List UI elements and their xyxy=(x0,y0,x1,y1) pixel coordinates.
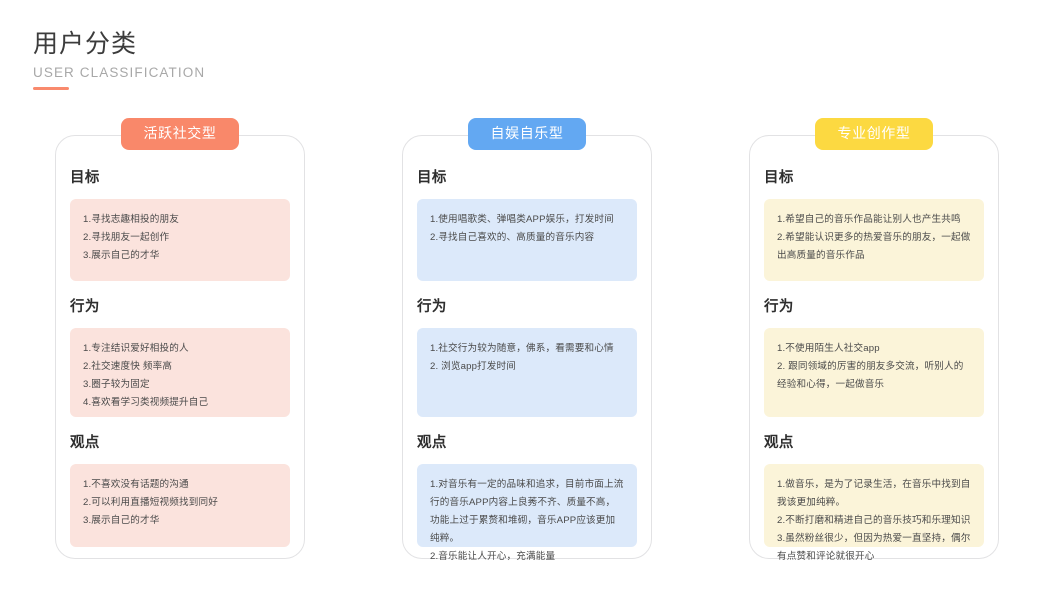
persona-card-body: 目标1.寻找志趣相投的朋友2.寻找朋友一起创作3.展示自己的才华行为1.专注结识… xyxy=(55,135,305,559)
section-panel-viewpoint: 1.做音乐，是为了记录生活，在音乐中找到自我该更加纯粹。2.不断打磨和精进自己的… xyxy=(764,464,984,547)
page-subtitle: USER CLASSIFICATION xyxy=(33,64,205,81)
panel-line: 3.虽然粉丝很少，但因为热爱一直坚持，偶尔有点赞和评论就很开心 xyxy=(777,530,972,566)
panel-line: 2.希望能认识更多的热爱音乐的朋友，一起做出高质量的音乐作品 xyxy=(777,229,972,265)
panel-line: 2.不断打磨和精进自己的音乐技巧和乐理知识 xyxy=(777,512,972,530)
panel-line: 2.可以利用直播短视频找到同好 xyxy=(83,494,278,512)
section-panel-viewpoint: 1.对音乐有一定的品味和追求，目前市面上流行的音乐APP内容上良莠不齐、质量不高… xyxy=(417,464,637,547)
persona-badge[interactable]: 活跃社交型 xyxy=(121,118,239,150)
section-heading-behavior: 行为 xyxy=(764,281,984,317)
panel-line: 2. 跟同领域的厉害的朋友多交流，听别人的经验和心得，一起做音乐 xyxy=(777,358,972,394)
section-panel-goal: 1.希望自己的音乐作品能让别人也产生共鸣2.希望能认识更多的热爱音乐的朋友，一起… xyxy=(764,199,984,281)
panel-line: 1.不使用陌生人社交app xyxy=(777,340,972,358)
section-panel-behavior: 1.不使用陌生人社交app2. 跟同领域的厉害的朋友多交流，听别人的经验和心得，… xyxy=(764,328,984,417)
panel-line: 3.展示自己的才华 xyxy=(83,512,278,530)
section-behavior: 行为1.专注结识爱好相投的人2.社交速度快 频率高3.圈子较为固定4.喜欢看学习… xyxy=(70,281,290,417)
section-heading-viewpoint: 观点 xyxy=(70,417,290,453)
section-heading-viewpoint: 观点 xyxy=(764,417,984,453)
section-panel-goal: 1.使用唱歌类、弹唱类APP娱乐，打发时间2.寻找自己喜欢的、高质量的音乐内容 xyxy=(417,199,637,281)
title-accent-rule xyxy=(33,87,69,90)
persona-card-body: 目标1.希望自己的音乐作品能让别人也产生共鸣2.希望能认识更多的热爱音乐的朋友，… xyxy=(749,135,999,559)
page-header: 用户分类 USER CLASSIFICATION xyxy=(33,28,205,90)
panel-line: 1.对音乐有一定的品味和追求，目前市面上流行的音乐APP内容上良莠不齐、质量不高… xyxy=(430,476,625,548)
panel-line: 2.社交速度快 频率高 xyxy=(83,358,278,376)
section-heading-viewpoint: 观点 xyxy=(417,417,637,453)
section-goal: 目标1.希望自己的音乐作品能让别人也产生共鸣2.希望能认识更多的热爱音乐的朋友，… xyxy=(764,136,984,281)
section-heading-behavior: 行为 xyxy=(417,281,637,317)
panel-line: 2.寻找自己喜欢的、高质量的音乐内容 xyxy=(430,229,625,247)
section-viewpoint: 观点1.做音乐，是为了记录生活，在音乐中找到自我该更加纯粹。2.不断打磨和精进自… xyxy=(764,417,984,547)
persona-card-body: 目标1.使用唱歌类、弹唱类APP娱乐，打发时间2.寻找自己喜欢的、高质量的音乐内… xyxy=(402,135,652,559)
panel-line: 2. 浏览app打发时间 xyxy=(430,358,625,376)
section-goal: 目标1.寻找志趣相投的朋友2.寻找朋友一起创作3.展示自己的才华 xyxy=(70,136,290,281)
panel-line: 2.寻找朋友一起创作 xyxy=(83,229,278,247)
panel-line: 1.寻找志趣相投的朋友 xyxy=(83,211,278,229)
section-viewpoint: 观点1.对音乐有一定的品味和追求，目前市面上流行的音乐APP内容上良莠不齐、质量… xyxy=(417,417,637,547)
persona-badge[interactable]: 自娱自乐型 xyxy=(468,118,586,150)
persona-badge[interactable]: 专业创作型 xyxy=(815,118,933,150)
page-title: 用户分类 xyxy=(33,28,205,60)
persona-card-1: 活跃社交型目标1.寻找志趣相投的朋友2.寻找朋友一起创作3.展示自己的才华行为1… xyxy=(55,135,305,559)
section-panel-viewpoint: 1.不喜欢没有话题的沟通2.可以利用直播短视频找到同好3.展示自己的才华 xyxy=(70,464,290,547)
panel-line: 1.做音乐，是为了记录生活，在音乐中找到自我该更加纯粹。 xyxy=(777,476,972,512)
section-goal: 目标1.使用唱歌类、弹唱类APP娱乐，打发时间2.寻找自己喜欢的、高质量的音乐内… xyxy=(417,136,637,281)
panel-line: 4.喜欢看学习类视频提升自己 xyxy=(83,394,278,412)
panel-line: 1.希望自己的音乐作品能让别人也产生共鸣 xyxy=(777,211,972,229)
section-viewpoint: 观点1.不喜欢没有话题的沟通2.可以利用直播短视频找到同好3.展示自己的才华 xyxy=(70,417,290,547)
persona-card-2: 自娱自乐型目标1.使用唱歌类、弹唱类APP娱乐，打发时间2.寻找自己喜欢的、高质… xyxy=(402,135,652,559)
section-behavior: 行为1.社交行为较为随意，佛系，看需要和心情2. 浏览app打发时间 xyxy=(417,281,637,417)
panel-line: 3.展示自己的才华 xyxy=(83,247,278,265)
panel-line: 1.社交行为较为随意，佛系，看需要和心情 xyxy=(430,340,625,358)
panel-line: 1.使用唱歌类、弹唱类APP娱乐，打发时间 xyxy=(430,211,625,229)
persona-card-row: 活跃社交型目标1.寻找志趣相投的朋友2.寻找朋友一起创作3.展示自己的才华行为1… xyxy=(0,135,1054,559)
panel-line: 1.不喜欢没有话题的沟通 xyxy=(83,476,278,494)
section-panel-behavior: 1.专注结识爱好相投的人2.社交速度快 频率高3.圈子较为固定4.喜欢看学习类视… xyxy=(70,328,290,417)
panel-line: 3.圈子较为固定 xyxy=(83,376,278,394)
section-behavior: 行为1.不使用陌生人社交app2. 跟同领域的厉害的朋友多交流，听别人的经验和心… xyxy=(764,281,984,417)
section-panel-goal: 1.寻找志趣相投的朋友2.寻找朋友一起创作3.展示自己的才华 xyxy=(70,199,290,281)
user-classification-page: 用户分类 USER CLASSIFICATION 活跃社交型目标1.寻找志趣相投… xyxy=(0,0,1054,600)
persona-card-3: 专业创作型目标1.希望自己的音乐作品能让别人也产生共鸣2.希望能认识更多的热爱音… xyxy=(749,135,999,559)
panel-line: 1.专注结识爱好相投的人 xyxy=(83,340,278,358)
section-panel-behavior: 1.社交行为较为随意，佛系，看需要和心情2. 浏览app打发时间 xyxy=(417,328,637,417)
panel-line: 2.音乐能让人开心，充满能量 xyxy=(430,548,625,566)
section-heading-behavior: 行为 xyxy=(70,281,290,317)
